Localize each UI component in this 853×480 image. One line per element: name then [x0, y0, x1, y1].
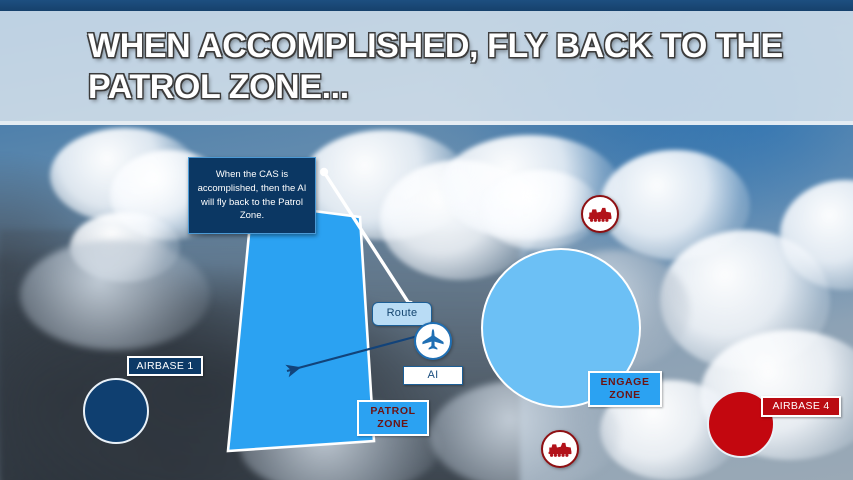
page-title: WHEN ACCOMPLISHED, FLY BACK TO THE PATRO… — [88, 26, 788, 109]
ai-label[interactable]: AI — [403, 366, 463, 385]
title-band-edge — [0, 121, 853, 125]
cloud-puff — [20, 240, 210, 350]
threat-vehicle-glyph — [587, 204, 613, 224]
patrol-zone-label-text: PATROL ZONE — [370, 405, 415, 431]
route-label-text: Route — [387, 307, 418, 320]
engage-zone-label[interactable]: ENGAGE ZONE — [588, 371, 662, 407]
slide-canvas: When the CAS is accomplished, then the A… — [0, 0, 853, 480]
top-accent-strip — [0, 0, 853, 11]
fighter-jet-icon[interactable] — [414, 322, 452, 360]
jet-glyph — [419, 327, 447, 355]
engage-zone-label-text: ENGAGE ZONE — [600, 376, 649, 402]
ai-label-text: AI — [428, 369, 439, 382]
ground-threat-icon[interactable] — [581, 195, 619, 233]
airbase-4-label-text: AIRBASE 4 — [773, 400, 830, 413]
patrol-zone-polygon[interactable] — [214, 203, 374, 451]
patrol-zone-label[interactable]: PATROL ZONE — [357, 400, 429, 436]
callout-text: When the CAS is accomplished, then the A… — [194, 168, 310, 223]
airbase-1-label[interactable]: AIRBASE 1 — [127, 356, 203, 376]
ground-threat-icon[interactable] — [541, 430, 579, 468]
airbase-1-marker[interactable] — [83, 378, 149, 444]
route-label[interactable]: Route — [372, 302, 432, 326]
airbase-4-label[interactable]: AIRBASE 4 — [761, 396, 841, 417]
patrol-zone-shape[interactable] — [228, 203, 374, 451]
callout-textbox[interactable]: When the CAS is accomplished, then the A… — [188, 157, 316, 234]
airbase-1-label-text: AIRBASE 1 — [137, 360, 194, 373]
threat-vehicle-glyph — [547, 439, 573, 459]
